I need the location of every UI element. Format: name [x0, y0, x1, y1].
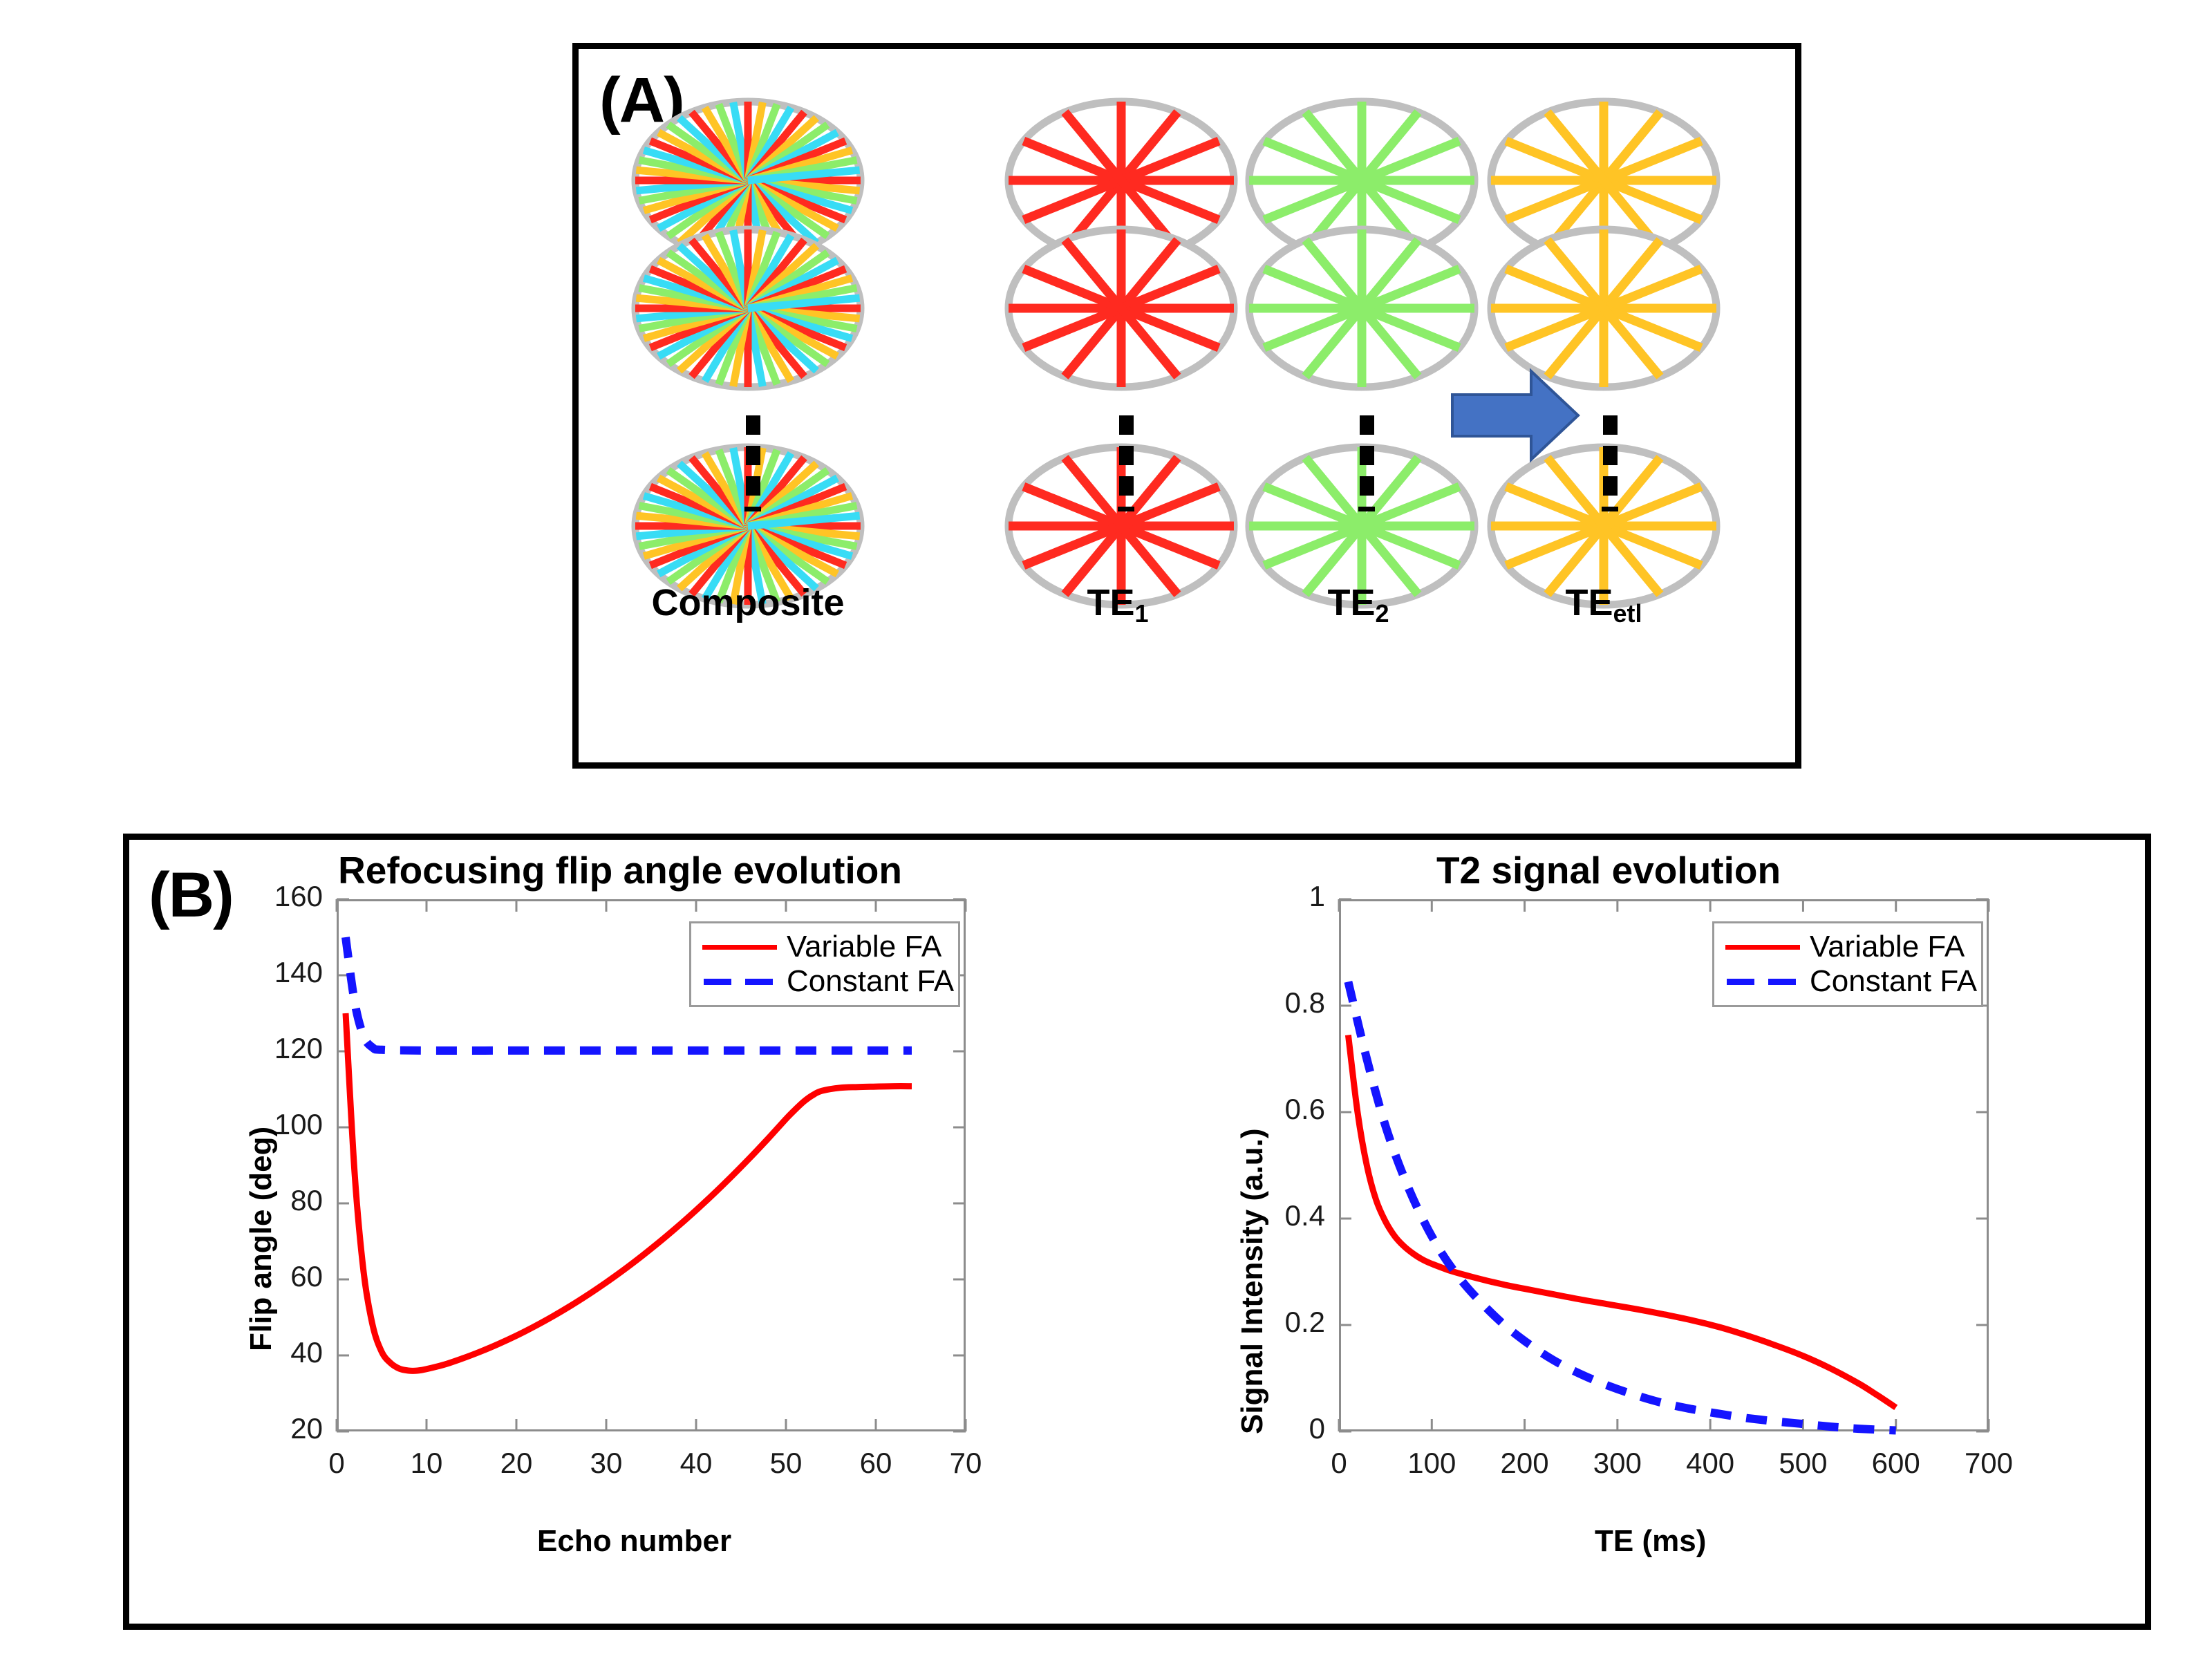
- dot: [1360, 415, 1374, 435]
- legend-label: Constant FA: [787, 964, 954, 999]
- column-label-te1: TE1: [1007, 581, 1228, 624]
- x-tick-label: 40: [648, 1447, 744, 1480]
- x-tick-label: 500: [1754, 1447, 1851, 1480]
- x-tick-label: 300: [1569, 1447, 1666, 1480]
- column-label-sub: 1: [1134, 599, 1148, 628]
- chart-legend: Variable FA Constant FA: [1712, 921, 1983, 1007]
- ellipsis-te2: [1358, 415, 1375, 511]
- chart-t2-signal-evolution: T2 signal evolution Signal Intensity (a.…: [1180, 840, 2148, 1628]
- column-label-composite: Composite: [620, 581, 876, 624]
- column-label-text: TE: [1565, 582, 1613, 623]
- chart-refocusing-flip-angle: Refocusing flip angle evolution Flip ang…: [219, 840, 1187, 1628]
- y-tick-label: 0.6: [1215, 1093, 1325, 1126]
- dot-tail: [744, 507, 761, 511]
- x-tick-label: 60: [827, 1447, 924, 1480]
- x-tick-label: 10: [378, 1447, 475, 1480]
- x-tick-label: 200: [1477, 1447, 1573, 1480]
- dot: [1360, 446, 1374, 465]
- dot: [1119, 415, 1134, 435]
- plot-graphics: [1180, 840, 2148, 1628]
- y-tick-label: 1: [1215, 880, 1325, 913]
- legend-item-variable-fa: Variable FA: [1714, 930, 1981, 964]
- dot-tail: [1358, 507, 1375, 511]
- x-tick-label: 0: [1291, 1447, 1387, 1480]
- panel-a: (A) Composite TE1 TE2 TEetl: [572, 43, 1801, 769]
- panel-a-graphics: [579, 49, 1795, 762]
- y-tick-label: 0.2: [1215, 1306, 1325, 1339]
- y-tick-label: 140: [212, 956, 323, 989]
- dot: [1360, 476, 1374, 496]
- legend-swatch-dashed: [702, 972, 777, 990]
- x-tick-label: 70: [917, 1447, 1014, 1480]
- x-tick-label: 100: [1383, 1447, 1480, 1480]
- dot: [1119, 476, 1134, 496]
- dot: [1119, 446, 1134, 465]
- chart-legend: Variable FA Constant FA: [689, 921, 960, 1007]
- dot: [746, 446, 760, 465]
- y-tick-label: 0: [1215, 1412, 1325, 1445]
- x-tick-label: 20: [468, 1447, 565, 1480]
- ellipsis-composite: [744, 415, 761, 511]
- legend-label: Variable FA: [787, 930, 941, 964]
- column-label-sub: 2: [1375, 599, 1389, 628]
- legend-item-constant-fa: Constant FA: [691, 964, 958, 999]
- legend-swatch-solid: [1725, 938, 1800, 956]
- y-tick-label: 80: [212, 1184, 323, 1217]
- column-label-text: Composite: [651, 582, 844, 623]
- y-tick-label: 20: [212, 1412, 323, 1445]
- panel-b: (B) Refocusing flip angle evolution Flip…: [123, 834, 2151, 1630]
- y-axis-label: Flip angle (deg): [244, 1127, 279, 1351]
- y-tick-label: 40: [212, 1336, 323, 1369]
- legend-label: Constant FA: [1810, 964, 1977, 999]
- dot: [1603, 476, 1618, 496]
- dot-tail: [1118, 507, 1134, 511]
- y-tick-label: 160: [212, 880, 323, 913]
- column-label-sub: etl: [1613, 599, 1642, 628]
- dot: [1603, 446, 1618, 465]
- legend-swatch-dashed: [1725, 972, 1800, 990]
- legend-swatch-solid: [702, 938, 777, 956]
- x-axis-label: TE (ms): [1595, 1524, 1706, 1559]
- ellipsis-te1: [1118, 415, 1134, 511]
- x-tick-label: 700: [1940, 1447, 2037, 1480]
- x-tick-label: 50: [738, 1447, 834, 1480]
- y-axis-label: Signal Intensity (a.u.): [1235, 1129, 1270, 1435]
- column-label-text: TE: [1087, 582, 1134, 623]
- x-tick-label: 600: [1848, 1447, 1944, 1480]
- dot: [746, 415, 760, 435]
- column-label-text: TE: [1327, 582, 1375, 623]
- ellipsis-teetl: [1602, 415, 1618, 511]
- y-tick-label: 100: [212, 1108, 323, 1141]
- x-axis-label: Echo number: [537, 1524, 731, 1559]
- legend-item-constant-fa: Constant FA: [1714, 964, 1981, 999]
- column-label-teetl: TEetl: [1490, 581, 1718, 624]
- y-tick-label: 120: [212, 1032, 323, 1065]
- x-tick-label: 30: [558, 1447, 655, 1480]
- y-tick-label: 60: [212, 1260, 323, 1293]
- column-label-te2: TE2: [1248, 581, 1469, 624]
- dot: [746, 476, 760, 496]
- dot: [1603, 415, 1618, 435]
- right-arrow-icon: [1450, 367, 1581, 464]
- x-tick-label: 0: [288, 1447, 385, 1480]
- dot-tail: [1602, 507, 1618, 511]
- x-tick-label: 400: [1662, 1447, 1759, 1480]
- legend-item-variable-fa: Variable FA: [691, 930, 958, 964]
- y-tick-label: 0.8: [1215, 986, 1325, 1019]
- y-tick-label: 0.4: [1215, 1199, 1325, 1232]
- legend-label: Variable FA: [1810, 930, 1965, 964]
